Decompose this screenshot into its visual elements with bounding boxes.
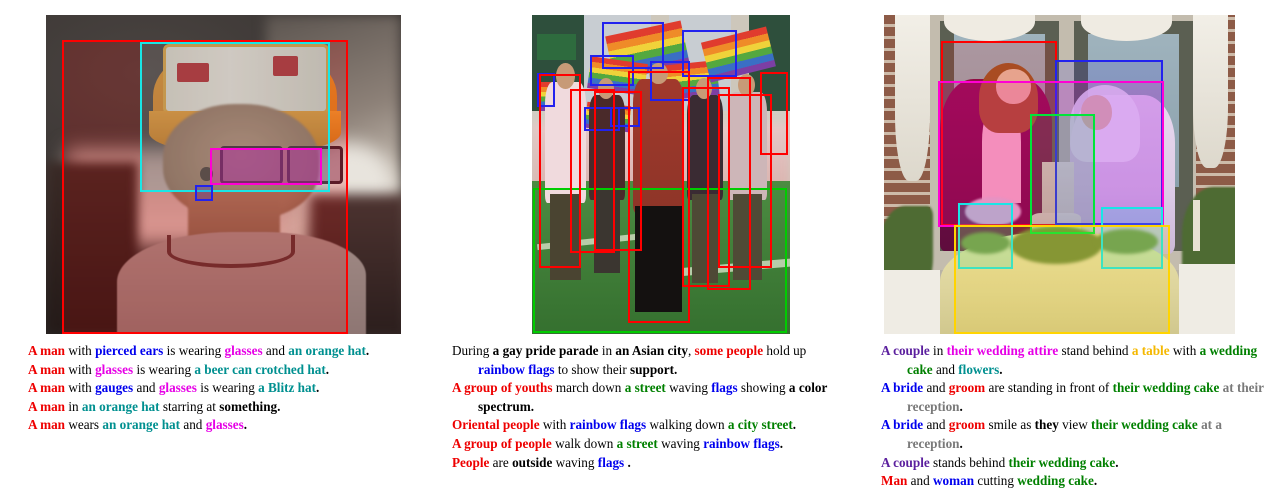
caption-phrase-black: . <box>316 380 319 395</box>
caption-phrase-blue: flags <box>598 455 624 470</box>
caption-phrase-green: wedding cake <box>1017 473 1094 488</box>
caption-line: Man and woman cutting wedding cake. <box>881 472 1267 491</box>
caption-phrase-black: . <box>960 436 963 451</box>
caption-phrase-red: A group of people <box>452 436 552 451</box>
panel-2: During a gay pride parade in an Asian ci… <box>425 0 855 503</box>
caption-phrase-black: . <box>999 362 1002 377</box>
caption-phrase-plain: and <box>180 417 206 432</box>
caption-phrase-black: . <box>960 399 963 414</box>
caption-phrase-plain: are <box>489 455 512 470</box>
caption-phrase-green: their wedding cake <box>1009 455 1116 470</box>
caption-phrase-plain: is wearing <box>197 380 258 395</box>
caption-phrase-red: People <box>452 455 489 470</box>
caption-phrase-green: a street <box>625 380 666 395</box>
caption-phrase-teal: a beer can crotched hat <box>194 362 325 377</box>
caption-line: A bride and groom are standing in front … <box>881 379 1267 416</box>
caption-phrase-red: groom <box>949 417 985 432</box>
panel-3: A couple in their wedding attire stand b… <box>855 0 1267 503</box>
caption-phrase-black: . <box>244 417 247 432</box>
people-box <box>628 71 690 323</box>
caption-phrase-black: . <box>326 362 329 377</box>
image-man-with-hat <box>46 15 401 334</box>
caption-phrase-teal: an orange hat <box>288 343 366 358</box>
caption-phrase-black: . <box>531 399 534 414</box>
caption-phrase-plain: stands behind <box>930 455 1009 470</box>
glasses-box <box>210 148 322 185</box>
caption-phrase-blue: rainbow flags <box>570 417 647 432</box>
caption-phrase-plain: to show their <box>555 362 630 377</box>
caption-phrase-black: . <box>624 455 631 470</box>
caption-phrase-green: a city street <box>728 417 793 432</box>
caption-phrase-blue: A bride <box>881 380 923 395</box>
caption-phrase-plain: waving <box>552 455 597 470</box>
caption-phrase-blue: A bride <box>881 417 923 432</box>
caption-phrase-red: groom <box>949 380 985 395</box>
caption-phrase-plain: and <box>923 417 949 432</box>
caption-phrase-black: a gay pride parade <box>493 343 599 358</box>
caption-phrase-plain: hold up <box>763 343 806 358</box>
caption-line: A couple stands behind their wedding cak… <box>881 454 1267 473</box>
caption-phrase-plain: with <box>1170 343 1200 358</box>
caption-phrase-plain: walk down <box>552 436 617 451</box>
caption-phrase-green: a street <box>617 436 658 451</box>
caption-phrase-blue: flags <box>711 380 737 395</box>
panel-1: A man with pierced ears is wearing glass… <box>0 0 430 503</box>
caption-phrase-red: A man <box>28 399 65 414</box>
caption-phrase-plain: and <box>923 380 949 395</box>
caption-phrase-plain: in <box>65 399 82 414</box>
caption-line: A group of youths march down a street wa… <box>452 379 854 416</box>
caption-phrase-green: their wedding cake <box>1091 417 1198 432</box>
caption-phrase-blue: woman <box>933 473 974 488</box>
rainbow-flag-box <box>682 30 737 77</box>
caption-phrase-plain: and <box>133 380 159 395</box>
figure-root: A man with pierced ears is wearing glass… <box>0 0 1267 503</box>
caption-block-1: A man with pierced ears is wearing glass… <box>28 342 428 435</box>
caption-phrase-magenta: glasses <box>206 417 244 432</box>
caption-line: During a gay pride parade in an Asian ci… <box>452 342 854 379</box>
caption-phrase-red: A man <box>28 380 65 395</box>
caption-phrase-red: A man <box>28 343 65 358</box>
caption-phrase-plain: , <box>688 343 695 358</box>
caption-phrase-black: . <box>780 436 783 451</box>
caption-phrase-teal: an orange hat <box>102 417 180 432</box>
caption-phrase-purple: A couple <box>881 455 930 470</box>
caption-line: A man with pierced ears is wearing glass… <box>28 342 428 361</box>
caption-phrase-plain: view <box>1059 417 1091 432</box>
caption-phrase-plain: and <box>263 343 289 358</box>
caption-phrase-black: they <box>1035 417 1059 432</box>
caption-phrase-blue: rainbow flags <box>703 436 780 451</box>
caption-phrase-red: A man <box>28 362 65 377</box>
caption-phrase-black: . <box>793 417 796 432</box>
caption-phrase-plain: is wearing <box>133 362 194 377</box>
caption-line: Oriental people with rainbow flags walki… <box>452 416 854 435</box>
caption-phrase-magenta: their wedding attire <box>947 343 1059 358</box>
caption-phrase-black: something. <box>219 399 280 414</box>
image-wedding-couple <box>884 15 1235 334</box>
caption-phrase-magenta: glasses <box>95 362 133 377</box>
caption-phrase-plain: waving <box>658 436 703 451</box>
caption-line: A man in an orange hat starring at somet… <box>28 398 428 417</box>
people-box <box>760 72 788 155</box>
caption-phrase-blue: gauges <box>95 380 133 395</box>
caption-phrase-plain: and <box>907 473 933 488</box>
caption-line: A man wears an orange hat and glasses. <box>28 416 428 435</box>
table-box <box>954 225 1170 334</box>
caption-line: A man with glasses is wearing a beer can… <box>28 361 428 380</box>
caption-phrase-plain: in <box>599 343 616 358</box>
caption-phrase-black: outside <box>512 455 552 470</box>
caption-phrase-plain: and <box>933 362 959 377</box>
caption-line: People are outside waving flags . <box>452 454 854 473</box>
caption-phrase-blue: pierced ears <box>95 343 163 358</box>
caption-phrase-black: . <box>674 362 677 377</box>
caption-phrase-plain: During <box>452 343 493 358</box>
caption-phrase-teal: an orange hat <box>82 399 160 414</box>
caption-line: A group of people walk down a street wav… <box>452 435 854 454</box>
caption-phrase-plain: is wearing <box>163 343 224 358</box>
image-pride-parade <box>532 15 790 334</box>
caption-phrase-black: . <box>366 343 369 358</box>
caption-phrase-red: Oriental people <box>452 417 540 432</box>
caption-phrase-plain: are standing in front of <box>985 380 1112 395</box>
caption-phrase-plain: with <box>540 417 570 432</box>
caption-line: A bride and groom smile as they view the… <box>881 416 1267 453</box>
gauges-box <box>195 185 213 201</box>
caption-phrase-plain: walking down <box>646 417 728 432</box>
caption-phrase-plain: with <box>65 380 95 395</box>
caption-phrase-plain: stand behind <box>1058 343 1132 358</box>
caption-block-2: During a gay pride parade in an Asian ci… <box>452 342 854 472</box>
caption-line: A couple in their wedding attire stand b… <box>881 342 1267 379</box>
caption-phrase-red: Man <box>881 473 907 488</box>
caption-phrase-black: . <box>1094 473 1097 488</box>
caption-phrase-red: A man <box>28 417 65 432</box>
caption-phrase-plain: march down <box>553 380 625 395</box>
caption-phrase-plain: in <box>930 343 947 358</box>
caption-phrase-gold: a table <box>1132 343 1170 358</box>
caption-phrase-black: support <box>630 362 674 377</box>
caption-phrase-plain: smile as <box>985 417 1034 432</box>
caption-phrase-black: . <box>1115 455 1118 470</box>
wedding-cake-box <box>1030 114 1095 234</box>
caption-phrase-red: some people <box>695 343 764 358</box>
caption-phrase-purple: A couple <box>881 343 930 358</box>
caption-line: A man with gauges and glasses is wearing… <box>28 379 428 398</box>
caption-phrase-black: an Asian city <box>615 343 688 358</box>
caption-phrase-plain: with <box>65 343 95 358</box>
caption-block-3: A couple in their wedding attire stand b… <box>881 342 1267 491</box>
caption-phrase-plain: wears <box>65 417 102 432</box>
caption-phrase-teal: flowers <box>958 362 999 377</box>
caption-phrase-plain: waving <box>666 380 711 395</box>
caption-phrase-plain: showing <box>738 380 789 395</box>
caption-phrase-teal: a Blitz hat <box>258 380 316 395</box>
caption-phrase-red: A group of youths <box>452 380 553 395</box>
caption-phrase-plain: starring at <box>160 399 220 414</box>
caption-phrase-green: their wedding cake <box>1113 380 1220 395</box>
caption-phrase-plain: with <box>65 362 95 377</box>
caption-phrase-magenta: glasses <box>224 343 262 358</box>
caption-phrase-magenta: glasses <box>159 380 197 395</box>
caption-phrase-blue: rainbow flags <box>478 362 555 377</box>
caption-phrase-plain: cutting <box>974 473 1017 488</box>
